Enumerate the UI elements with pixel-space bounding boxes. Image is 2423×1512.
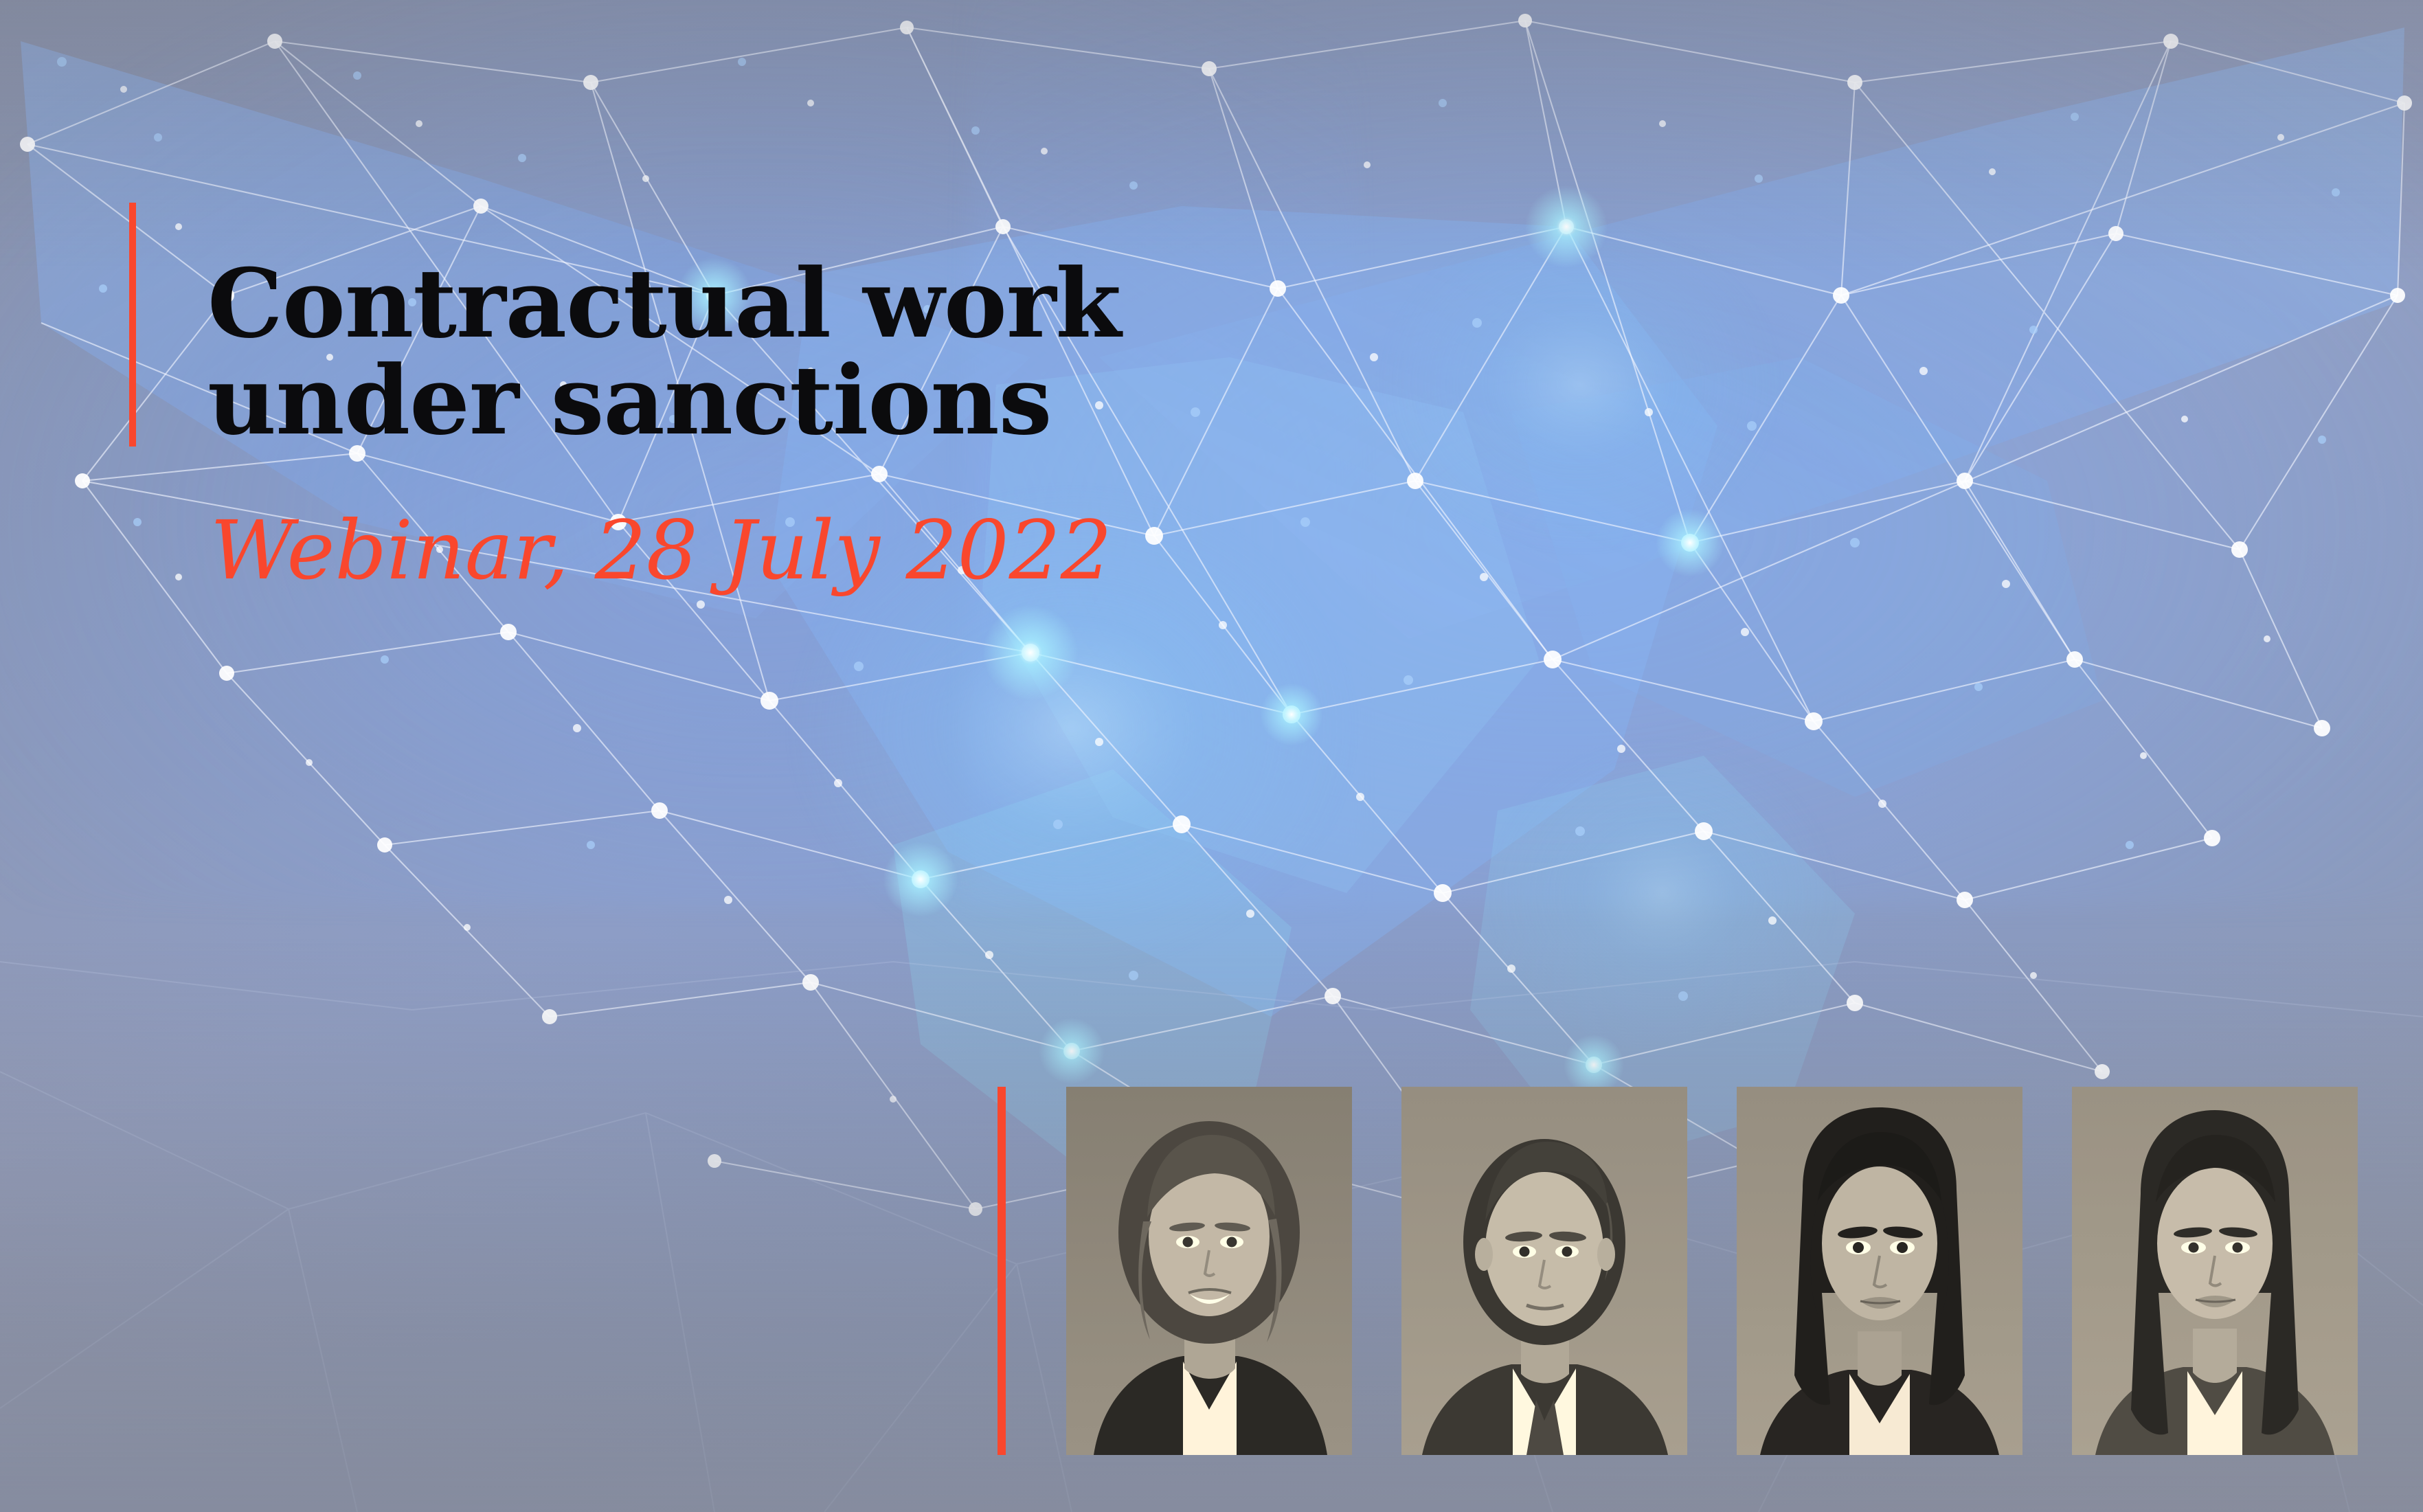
speakers-accent-bar <box>998 1087 1006 1455</box>
speaker-portrait-1 <box>1066 1087 1352 1455</box>
speaker-portrait-2 <box>1401 1087 1687 1455</box>
speakers-row <box>1066 1087 2358 1455</box>
speaker-portrait-3 <box>1737 1087 2022 1455</box>
page-title: Contractual work under sanctions <box>207 256 1307 449</box>
webinar-banner: Contractual work under sanctions Webinar… <box>0 0 2423 1512</box>
event-subtitle: Webinar, 28 July 2022 <box>210 508 1112 594</box>
title-accent-bar <box>129 203 136 447</box>
speaker-portrait-4 <box>2072 1087 2358 1455</box>
